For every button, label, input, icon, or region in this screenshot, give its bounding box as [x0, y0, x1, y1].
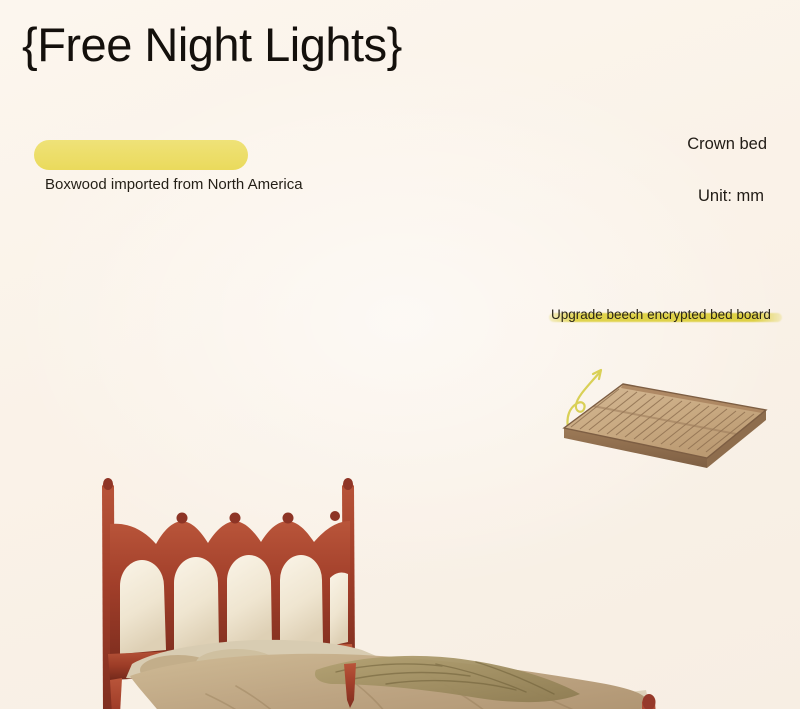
bed-illustration — [86, 464, 686, 709]
board-callout-label: Upgrade beech encrypted bed board — [551, 306, 800, 324]
slatted-bed-board-icon — [559, 380, 774, 472]
page-title: {Free Night Lights} — [22, 21, 800, 68]
product-infographic: {Free Night Lights} Boxwood imported fro… — [0, 0, 800, 709]
unit-label: Unit: mm — [0, 187, 764, 206]
product-name-label: Crown bed — [0, 135, 767, 154]
